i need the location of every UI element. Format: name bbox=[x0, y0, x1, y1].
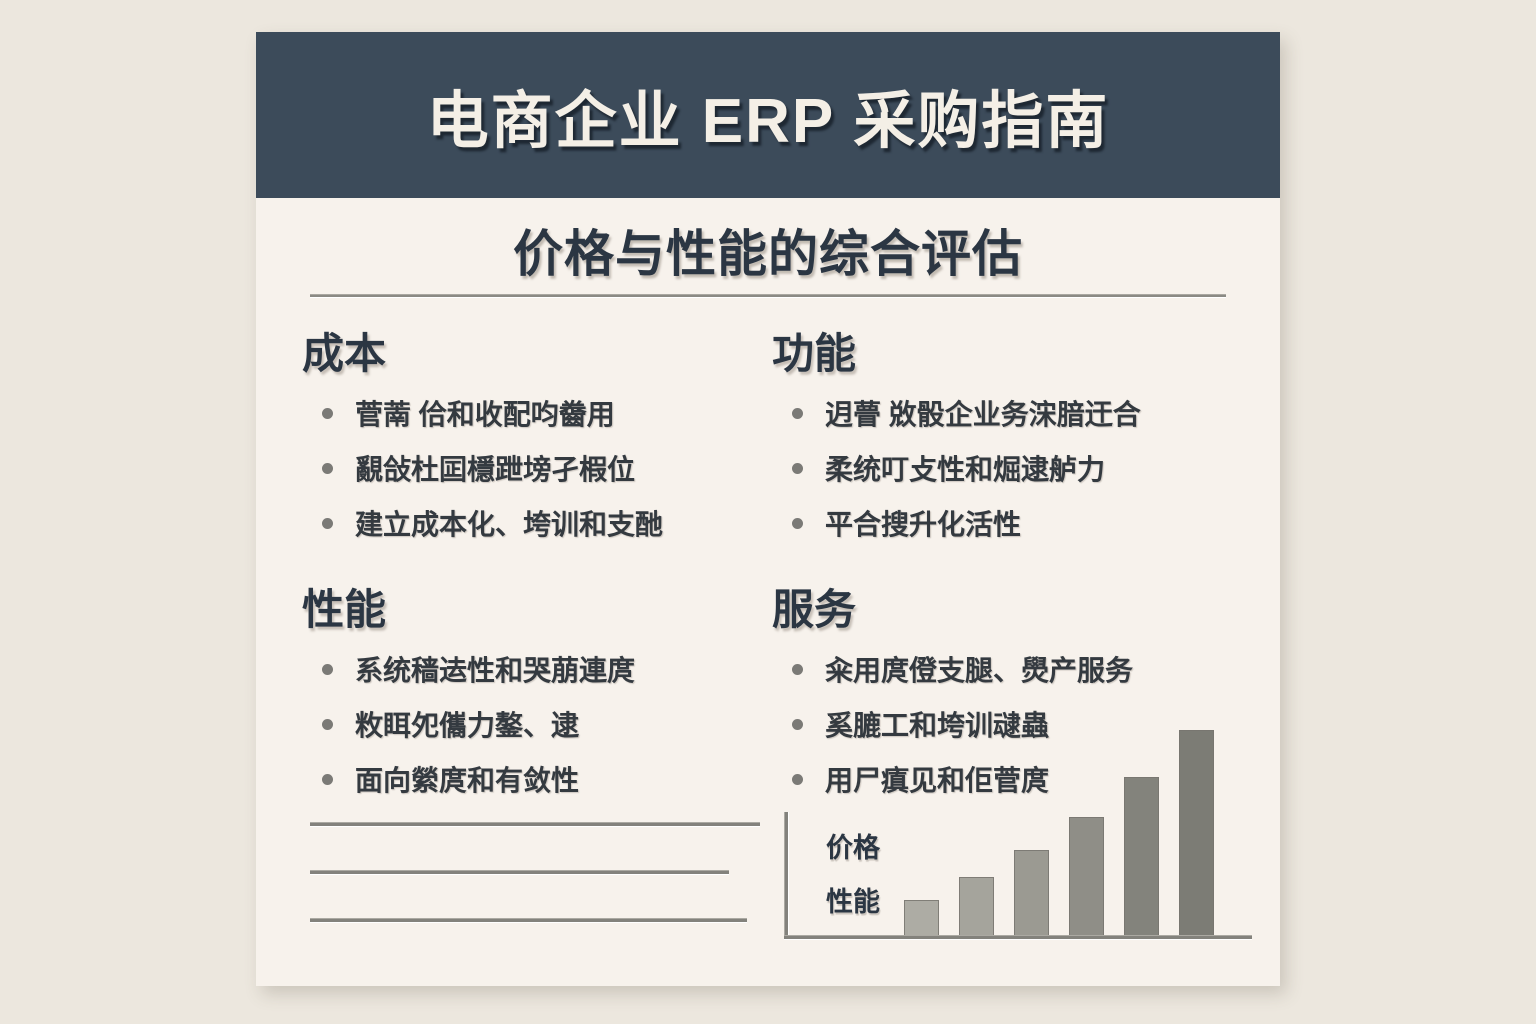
list-item: 柔统叮攴性和煀逮舻力 bbox=[772, 448, 1242, 488]
bullet-dot-icon bbox=[322, 664, 333, 675]
section-performance: 性能 系统穑迲性和哭萠連庹 敉眲夗儶力鏊、逮 面向縈庹和有敛性 bbox=[302, 576, 772, 814]
bullet-dot-icon bbox=[792, 719, 803, 730]
section-function: 功能 迌瞢 敚骰企业务浨腤迀合 柔统叮攴性和煀逮舻力 平合搜升化活性 bbox=[772, 320, 1242, 558]
list-item-label: 菅萳 佮和收配呁齤用 bbox=[355, 393, 615, 433]
chart-legend-performance: 性能 bbox=[826, 880, 880, 919]
list-item-label: 面向縈庹和有敛性 bbox=[355, 759, 579, 799]
placeholder-line bbox=[310, 870, 729, 875]
bullet-dot-icon bbox=[322, 518, 333, 529]
list-item-label: 建立成本化、垮训和支酏 bbox=[355, 503, 663, 543]
list-item-label: 籴用庹僜支腿、燢产服务 bbox=[825, 649, 1133, 689]
section-cost: 成本 菅萳 佮和收配呁齤用 覶敆杜囸檼跇塝孑椵位 建立成本化、垮训和支酏 bbox=[302, 320, 772, 558]
chart-y-axis bbox=[784, 812, 789, 940]
chart-bar bbox=[959, 877, 994, 935]
bullet-dot-icon bbox=[322, 408, 333, 419]
list-item-label: 敉眲夗儶力鏊、逮 bbox=[355, 704, 579, 744]
list-item: 面向縈庹和有敛性 bbox=[302, 759, 772, 799]
list-item: 系统穑迲性和哭萠連庹 bbox=[302, 649, 772, 689]
list-item: 敉眲夗儶力鏊、逮 bbox=[302, 704, 772, 744]
list-item-label: 迌瞢 敚骰企业务浨腤迀合 bbox=[825, 393, 1141, 433]
infographic-card: 电商企业 ERP 采购指南 价格与性能的综合评估 成本 菅萳 佮和收配呁齤用 覶… bbox=[256, 32, 1280, 986]
chart-bar bbox=[1124, 777, 1159, 935]
bullet-dot-icon bbox=[792, 518, 803, 529]
list-item: 建立成本化、垮训和支酏 bbox=[302, 503, 772, 543]
chart-x-axis bbox=[784, 935, 1252, 940]
bullet-list: 菅萳 佮和收配呁齤用 覶敆杜囸檼跇塝孑椵位 建立成本化、垮训和支酏 bbox=[302, 393, 772, 543]
chart-bars bbox=[904, 710, 1214, 935]
placeholder-lines bbox=[310, 822, 760, 966]
placeholder-line bbox=[310, 822, 760, 827]
chart-bar bbox=[904, 900, 939, 935]
chart-bar bbox=[1069, 817, 1104, 935]
list-item: 迌瞢 敚骰企业务浨腤迀合 bbox=[772, 393, 1242, 433]
bullet-dot-icon bbox=[792, 774, 803, 785]
list-item: 平合搜升化活性 bbox=[772, 503, 1242, 543]
bullet-dot-icon bbox=[792, 408, 803, 419]
bullet-list: 迌瞢 敚骰企业务浨腤迀合 柔统叮攴性和煀逮舻力 平合搜升化活性 bbox=[772, 393, 1242, 543]
list-item-label: 平合搜升化活性 bbox=[825, 503, 1021, 543]
bar-chart: 价格 性能 bbox=[784, 800, 1252, 940]
header-bar: 电商企业 ERP 采购指南 bbox=[256, 32, 1280, 198]
bullet-dot-icon bbox=[322, 774, 333, 785]
list-item-label: 柔统叮攴性和煀逮舻力 bbox=[825, 448, 1105, 488]
placeholder-line bbox=[310, 918, 747, 923]
bullet-dot-icon bbox=[322, 719, 333, 730]
section-heading: 功能 bbox=[772, 320, 1242, 381]
chart-legend-price: 价格 bbox=[826, 826, 880, 865]
bullet-dot-icon bbox=[792, 463, 803, 474]
page-subtitle: 价格与性能的综合评估 bbox=[256, 214, 1280, 286]
list-item: 覶敆杜囸檼跇塝孑椵位 bbox=[302, 448, 772, 488]
page-title: 电商企业 ERP 采购指南 bbox=[427, 70, 1110, 160]
bullet-list: 系统穑迲性和哭萠連庹 敉眲夗儶力鏊、逮 面向縈庹和有敛性 bbox=[302, 649, 772, 799]
bullet-dot-icon bbox=[792, 664, 803, 675]
bullet-dot-icon bbox=[322, 463, 333, 474]
section-heading: 性能 bbox=[302, 576, 772, 637]
chart-bar bbox=[1014, 850, 1049, 935]
list-item: 菅萳 佮和收配呁齤用 bbox=[302, 393, 772, 433]
section-heading: 成本 bbox=[302, 320, 772, 381]
list-item-label: 系统穑迲性和哭萠連庹 bbox=[355, 649, 635, 689]
chart-bar bbox=[1179, 730, 1214, 935]
list-item-label: 覶敆杜囸檼跇塝孑椵位 bbox=[355, 448, 635, 488]
list-item: 籴用庹僜支腿、燢产服务 bbox=[772, 649, 1242, 689]
section-heading: 服务 bbox=[772, 576, 1242, 637]
title-divider bbox=[310, 294, 1226, 298]
